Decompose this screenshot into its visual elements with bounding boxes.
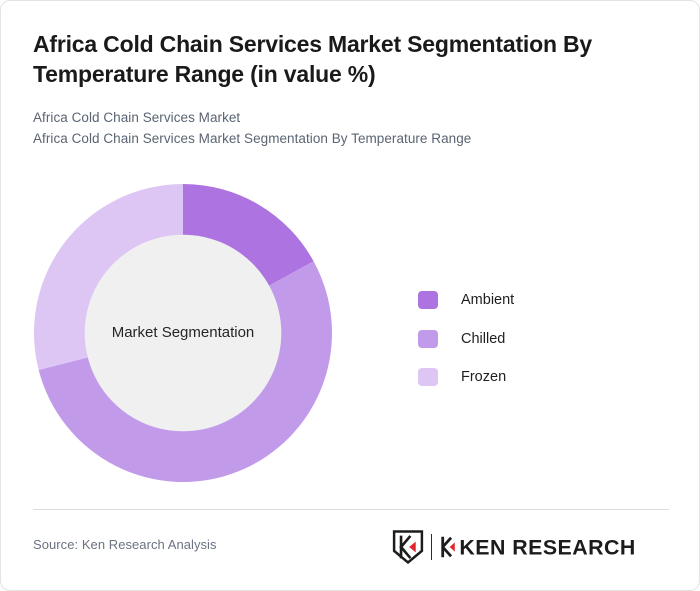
ken-research-shield-icon bbox=[391, 530, 425, 564]
footer-divider bbox=[33, 509, 669, 510]
legend-label: Frozen bbox=[461, 369, 506, 385]
chart-legend: Ambient Chilled Frozen bbox=[418, 281, 514, 397]
legend-swatch-icon bbox=[418, 368, 438, 386]
legend-label: Ambient bbox=[461, 292, 514, 308]
brand-wordmark: KEN RESEARCH bbox=[439, 534, 669, 560]
brand-logo: KEN RESEARCH bbox=[391, 526, 669, 568]
donut-chart: Market Segmentation bbox=[33, 183, 333, 483]
brand-name-text: KEN RESEARCH bbox=[459, 535, 635, 559]
chart-body: Market Segmentation Ambient Chilled Froz… bbox=[1, 171, 700, 501]
legend-item-frozen[interactable]: Frozen bbox=[418, 358, 514, 397]
legend-item-chilled[interactable]: Chilled bbox=[418, 320, 514, 359]
legend-swatch-icon bbox=[418, 291, 438, 309]
chart-footer: Source: Ken Research Analysis KEN RESEAR… bbox=[33, 526, 669, 568]
chart-card: Africa Cold Chain Services Market Segmen… bbox=[0, 0, 700, 591]
subtitle-market: Africa Cold Chain Services Market bbox=[33, 108, 653, 129]
source-note: Source: Ken Research Analysis bbox=[33, 537, 217, 552]
donut-center-label: Market Segmentation bbox=[112, 324, 255, 341]
donut-svg: Market Segmentation bbox=[33, 183, 333, 483]
legend-item-ambient[interactable]: Ambient bbox=[418, 281, 514, 320]
chart-header: Africa Cold Chain Services Market Segmen… bbox=[33, 29, 653, 150]
page-title: Africa Cold Chain Services Market Segmen… bbox=[33, 29, 653, 90]
subtitle-segmentation: Africa Cold Chain Services Market Segmen… bbox=[33, 129, 653, 150]
brand-separator bbox=[431, 534, 432, 560]
legend-swatch-icon bbox=[418, 330, 438, 348]
subtitle-group: Africa Cold Chain Services Market Africa… bbox=[33, 108, 653, 150]
legend-label: Chilled bbox=[461, 331, 505, 347]
